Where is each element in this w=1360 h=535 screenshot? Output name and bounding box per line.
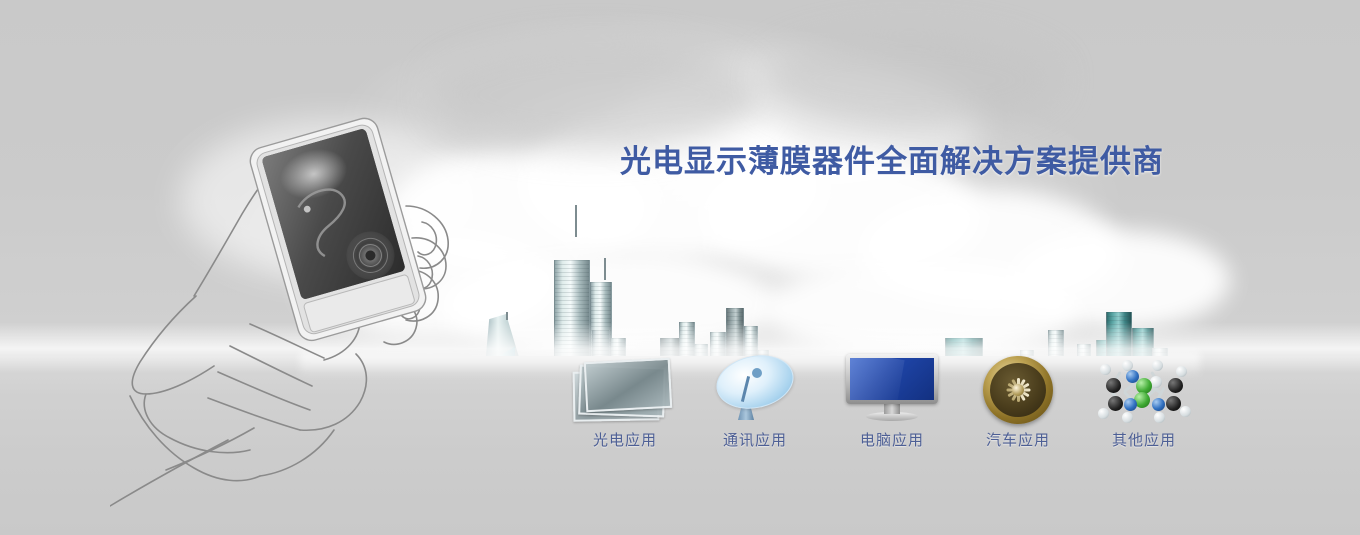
antenna-mast <box>575 205 577 237</box>
satellite-dish-icon <box>690 352 820 424</box>
application-item-automotive[interactable]: 汽车应用 <box>953 352 1083 450</box>
hero-banner: 光电显示薄膜器件全面解决方案提供商 光电应用 <box>0 0 1360 535</box>
page-title: 光电显示薄膜器件全面解决方案提供商 <box>620 140 1164 184</box>
car-wheel-icon <box>953 352 1083 424</box>
computer-monitor-icon <box>827 352 957 424</box>
application-label: 电脑应用 <box>827 429 957 450</box>
glass-panels-icon <box>560 352 690 424</box>
application-item-optoelectronic[interactable]: 光电应用 <box>560 352 690 450</box>
application-label: 通讯应用 <box>690 429 820 450</box>
antenna-mast <box>604 258 606 280</box>
application-label: 其他应用 <box>1079 429 1209 450</box>
molecule-icon <box>1079 352 1209 424</box>
application-item-computer[interactable]: 电脑应用 <box>827 352 957 450</box>
application-item-communication[interactable]: 通讯应用 <box>690 352 820 450</box>
application-label: 光电应用 <box>560 429 690 450</box>
application-label: 汽车应用 <box>953 429 1083 450</box>
application-list: 光电应用 通讯应用 电脑应用 <box>0 352 1360 472</box>
application-item-other[interactable]: 其他应用 <box>1079 352 1209 450</box>
